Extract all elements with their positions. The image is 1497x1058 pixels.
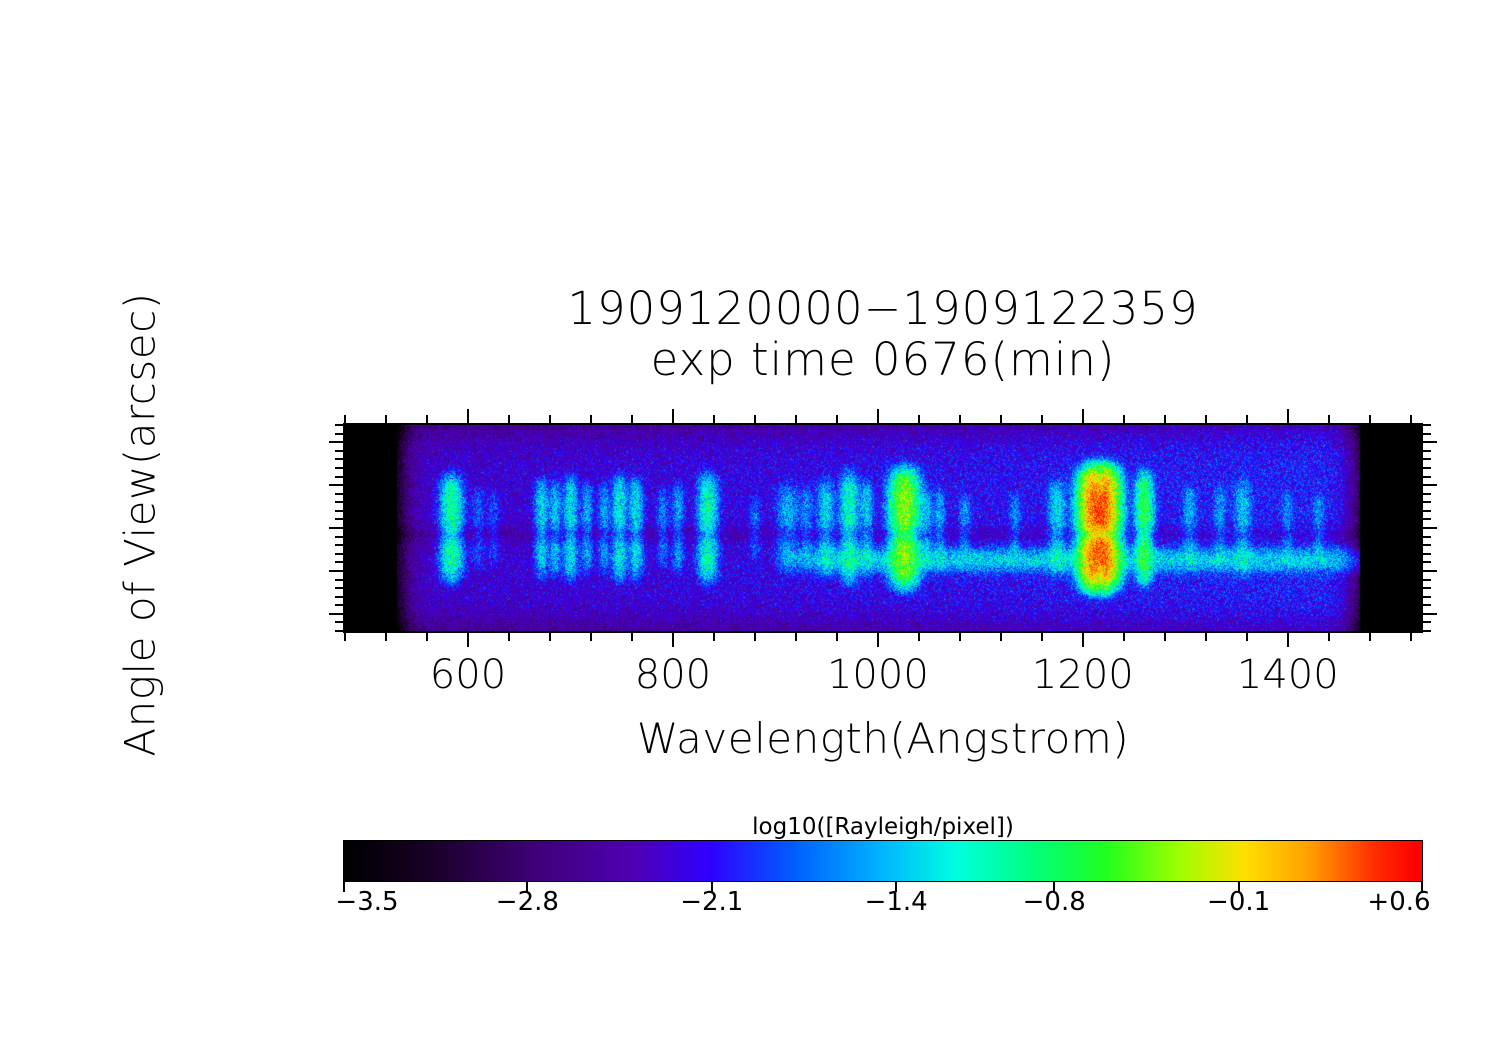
y-minor-tick	[335, 561, 343, 563]
y-minor-tick	[335, 621, 343, 623]
y-minor-tick	[335, 596, 343, 598]
y-minor-tick-right	[1423, 467, 1431, 469]
y-major-tick-right	[1423, 441, 1437, 443]
y-minor-tick	[335, 458, 343, 460]
colorbar-tick-label: −2.8	[496, 889, 559, 915]
y-minor-tick	[335, 630, 343, 632]
x-minor-tick	[1000, 633, 1002, 641]
x-minor-tick-top	[836, 415, 838, 423]
y-minor-tick-right	[1423, 544, 1431, 546]
y-major-tick-right	[1423, 570, 1437, 572]
y-minor-tick-right	[1423, 510, 1431, 512]
x-minor-tick	[1410, 633, 1412, 641]
colorbar-tick-labels: −3.5−2.8−2.1−1.4−0.8−0.1+0.6	[343, 889, 1423, 929]
y-minor-tick	[335, 476, 343, 478]
x-minor-tick	[836, 633, 838, 641]
y-minor-tick	[335, 536, 343, 538]
x-minor-tick-top	[1123, 415, 1125, 423]
y-minor-tick-right	[1423, 536, 1431, 538]
x-tick-label: 1000	[827, 655, 929, 695]
x-minor-tick-top	[549, 415, 551, 423]
x-minor-tick-top	[631, 415, 633, 423]
x-minor-tick	[918, 633, 920, 641]
x-minor-tick	[1369, 633, 1371, 641]
y-minor-tick	[335, 493, 343, 495]
x-tick-label: 1200	[1032, 655, 1134, 695]
x-minor-tick	[1246, 633, 1248, 641]
x-tick-label: 800	[635, 655, 711, 695]
x-minor-tick-top	[713, 415, 715, 423]
y-minor-tick-right	[1423, 501, 1431, 503]
x-minor-tick-top	[959, 415, 961, 423]
x-axis-tick-labels: 600800100012001400	[0, 655, 1497, 715]
colorbar-tick-label: −0.1	[1207, 889, 1270, 915]
y-minor-tick-right	[1423, 553, 1431, 555]
y-axis-tick-labels: 2001000−100−200	[0, 0, 330, 1058]
colorbar-gradient	[344, 841, 1422, 881]
x-minor-tick	[1041, 633, 1043, 641]
y-minor-tick	[335, 510, 343, 512]
y-minor-tick	[335, 501, 343, 503]
y-minor-tick-right	[1423, 424, 1431, 426]
x-tick-label: 600	[430, 655, 506, 695]
y-minor-tick	[335, 544, 343, 546]
x-minor-tick-top	[1000, 415, 1002, 423]
y-minor-tick-right	[1423, 458, 1431, 460]
x-minor-tick	[754, 633, 756, 641]
x-major-tick	[1082, 633, 1084, 647]
y-minor-tick-right	[1423, 433, 1431, 435]
x-major-tick-top	[672, 409, 674, 423]
x-minor-tick-top	[1041, 415, 1043, 423]
colorbar-tick-label: +0.6	[1367, 889, 1430, 915]
x-minor-tick	[549, 633, 551, 641]
x-major-tick-top	[1287, 409, 1289, 423]
y-major-tick-right	[1423, 613, 1437, 615]
x-axis-title: Wavelength(Angstrom)	[343, 714, 1423, 763]
x-minor-tick	[1123, 633, 1125, 641]
y-minor-tick-right	[1423, 604, 1431, 606]
x-minor-tick	[713, 633, 715, 641]
x-minor-tick-top	[1410, 415, 1412, 423]
y-minor-tick-right	[1423, 450, 1431, 452]
x-major-tick	[467, 633, 469, 647]
y-minor-tick	[335, 587, 343, 589]
x-minor-tick-top	[1328, 415, 1330, 423]
y-minor-tick-right	[1423, 621, 1431, 623]
x-minor-tick	[1164, 633, 1166, 641]
x-major-tick	[1287, 633, 1289, 647]
x-minor-tick-top	[1246, 415, 1248, 423]
y-major-tick	[329, 527, 343, 529]
x-minor-tick-top	[344, 415, 346, 423]
x-tick-label: 1400	[1237, 655, 1339, 695]
y-minor-tick	[335, 604, 343, 606]
y-major-tick	[329, 441, 343, 443]
x-major-tick-top	[877, 409, 879, 423]
x-major-tick-top	[467, 409, 469, 423]
x-minor-tick-top	[426, 415, 428, 423]
y-minor-tick-right	[1423, 476, 1431, 478]
y-minor-tick	[335, 553, 343, 555]
x-minor-tick-top	[508, 415, 510, 423]
x-major-tick-top	[1082, 409, 1084, 423]
x-minor-tick	[426, 633, 428, 641]
x-minor-tick-top	[1369, 415, 1371, 423]
x-minor-tick	[344, 633, 346, 641]
colorbar-tick-label: −2.1	[680, 889, 743, 915]
y-minor-tick-right	[1423, 587, 1431, 589]
x-major-tick	[672, 633, 674, 647]
x-minor-tick-top	[590, 415, 592, 423]
y-minor-tick	[335, 433, 343, 435]
y-minor-tick	[335, 518, 343, 520]
y-minor-tick-right	[1423, 630, 1431, 632]
x-minor-tick-top	[754, 415, 756, 423]
x-minor-tick	[795, 633, 797, 641]
y-major-tick	[329, 484, 343, 486]
x-minor-tick	[631, 633, 633, 641]
x-minor-tick	[959, 633, 961, 641]
y-minor-tick	[335, 424, 343, 426]
y-minor-tick-right	[1423, 518, 1431, 520]
y-minor-tick	[335, 579, 343, 581]
x-minor-tick-top	[385, 415, 387, 423]
x-major-tick	[877, 633, 879, 647]
y-minor-tick-right	[1423, 596, 1431, 598]
x-minor-tick	[1328, 633, 1330, 641]
y-minor-tick-right	[1423, 561, 1431, 563]
y-major-tick-right	[1423, 484, 1437, 486]
x-minor-tick-top	[1164, 415, 1166, 423]
colorbar-tick-label: −3.5	[335, 889, 398, 915]
y-major-tick	[329, 570, 343, 572]
colorbar-tick-label: −0.8	[1023, 889, 1086, 915]
colorbar-tick-label: −1.4	[865, 889, 928, 915]
x-minor-tick	[590, 633, 592, 641]
x-minor-tick-top	[918, 415, 920, 423]
y-major-tick	[329, 613, 343, 615]
x-minor-tick-top	[795, 415, 797, 423]
colorbar-title: log10([Rayleigh/pixel])	[343, 814, 1423, 840]
x-minor-tick	[508, 633, 510, 641]
y-minor-tick-right	[1423, 493, 1431, 495]
x-minor-tick	[385, 633, 387, 641]
y-minor-tick	[335, 467, 343, 469]
y-minor-tick	[335, 450, 343, 452]
y-minor-tick-right	[1423, 579, 1431, 581]
colorbar-frame	[343, 840, 1423, 882]
x-minor-tick-top	[1205, 415, 1207, 423]
x-minor-tick	[1205, 633, 1207, 641]
y-major-tick-right	[1423, 527, 1437, 529]
